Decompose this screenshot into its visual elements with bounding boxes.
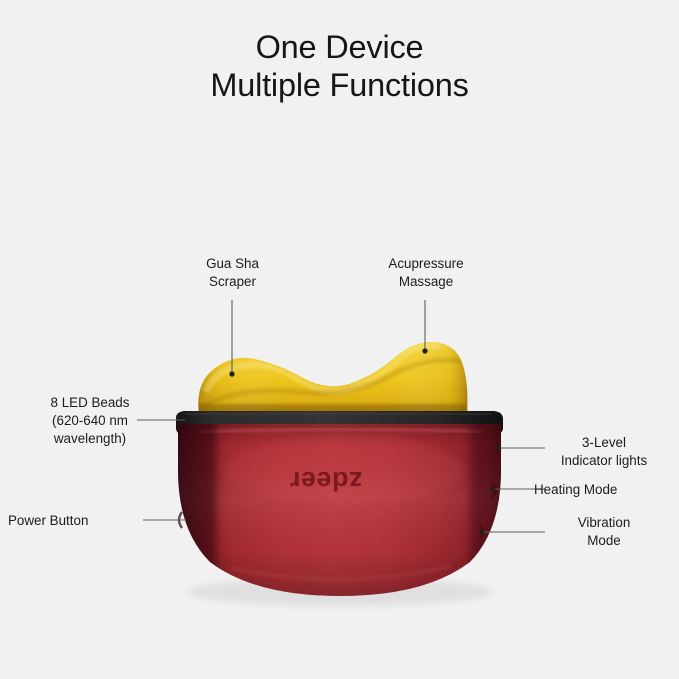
device-collar-band: [176, 411, 503, 435]
leader-dot-vibration-mode: [480, 530, 485, 535]
device-body: zdeer: [170, 420, 514, 600]
title-line-1: One Device: [0, 28, 679, 66]
brand-logo: zdeer: [289, 466, 362, 496]
page-title: One Device Multiple Functions: [0, 28, 679, 104]
device-shadow: [188, 578, 492, 606]
title-line-2: Multiple Functions: [0, 66, 679, 104]
heating-mode-button[interactable]: [492, 482, 496, 498]
leader-dot-heating-mode: [491, 487, 496, 492]
indicator-lights-control[interactable]: [497, 440, 500, 457]
vibration-mode-button[interactable]: [479, 524, 483, 540]
leader-dot-acupressure: [422, 348, 427, 353]
callout-label-power-button: Power Button: [8, 512, 148, 530]
callout-label-heating-mode: Heating Mode: [534, 481, 674, 499]
leader-dot-gua-sha: [229, 371, 234, 376]
power-button-control[interactable]: [179, 512, 182, 528]
callout-label-led-beads: 8 LED Beads (620-640 nm wavelength): [10, 394, 170, 447]
gua-sha-scraper: [190, 342, 480, 418]
callout-label-acupressure: Acupressure Massage: [352, 255, 500, 291]
callout-label-vibration-mode: Vibration Mode: [534, 514, 674, 550]
callout-label-indicator-lights: 3-Level Indicator lights: [534, 434, 674, 470]
leader-dot-indicator-lights: [496, 446, 501, 451]
infographic-canvas: One Device Multiple Functions: [0, 0, 679, 679]
callout-label-gua-sha: Gua Sha Scraper: [160, 255, 305, 291]
side-controls: [179, 440, 500, 540]
